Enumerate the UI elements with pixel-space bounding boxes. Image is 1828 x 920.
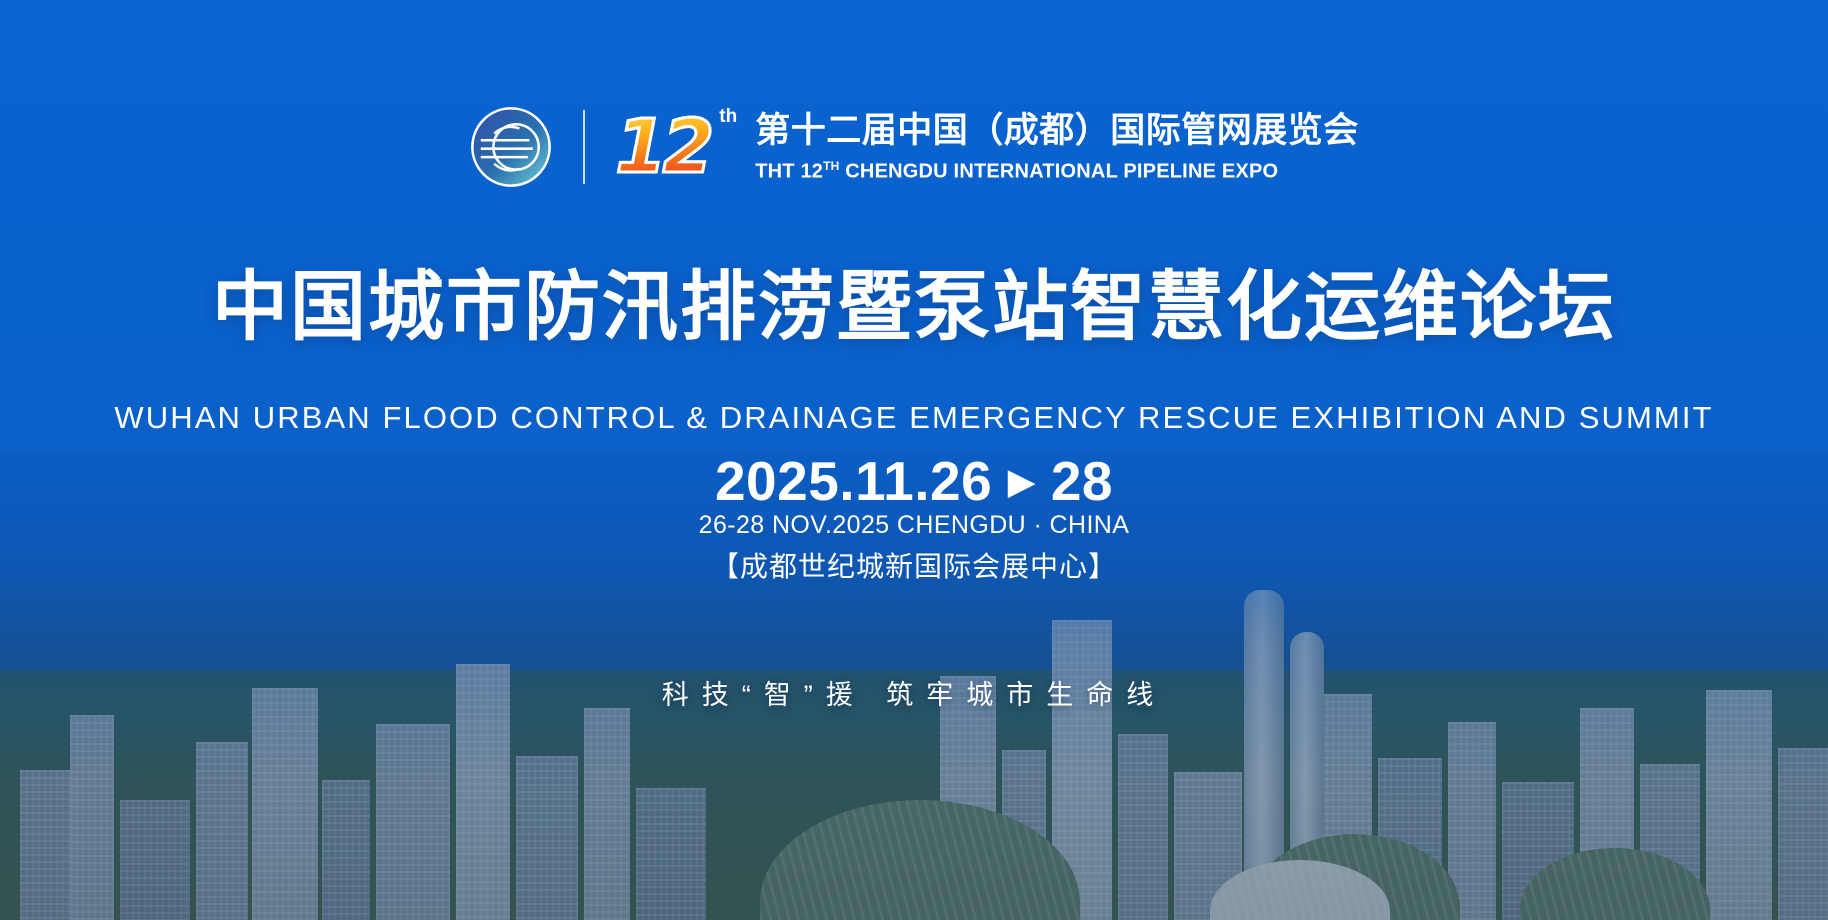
expo-title-cn: 第十二届中国（成都）国际管网展览会	[755, 109, 1359, 153]
event-date-start: 2025.11.26	[715, 450, 992, 512]
page-subtitle: WUHAN URBAN FLOOD CONTROL & DRAINAGE EME…	[0, 398, 1828, 438]
expo-title-en-prefix: THT 12	[755, 161, 823, 183]
edition-suffix: th	[719, 106, 737, 128]
edition-number-badge: 12 th	[615, 104, 733, 190]
event-date-end: 28	[1051, 450, 1113, 512]
poster-content: 12 th 第十二届中国（成都）国际管网展览会 THT 12TH CHENGDU…	[0, 0, 1828, 920]
edition-number: 12	[615, 104, 733, 190]
expo-logo-lockup: 12 th 第十二届中国（成都）国际管网展览会 THT 12TH CHENGDU…	[0, 104, 1828, 190]
event-tagline: 科技“智”援 筑牢城市生命线	[0, 676, 1828, 714]
play-triangle-icon: ▶	[1008, 449, 1035, 515]
expo-title-en: THT 12TH CHENGDU INTERNATIONAL PIPELINE …	[755, 153, 1359, 185]
pipeline-circle-emblem-icon	[469, 105, 553, 189]
expo-title-en-suffix: CHENGDU INTERNATIONAL PIPELINE EXPO	[840, 161, 1279, 183]
event-poster: 12 th 第十二届中国（成都）国际管网展览会 THT 12TH CHENGDU…	[0, 0, 1828, 920]
page-title: 中国城市防汛排涝暨泵站智慧化运维论坛	[0, 262, 1828, 354]
logo-text-block: 第十二届中国（成都）国际管网展览会 THT 12TH CHENGDU INTER…	[755, 109, 1359, 185]
event-venue: 【成都世纪城新国际会展中心】	[0, 548, 1828, 586]
event-date-en: 26-28 NOV.2025 CHENGDU · CHINA	[0, 508, 1828, 542]
expo-title-en-sup: TH	[823, 159, 839, 173]
logo-divider	[583, 110, 585, 184]
